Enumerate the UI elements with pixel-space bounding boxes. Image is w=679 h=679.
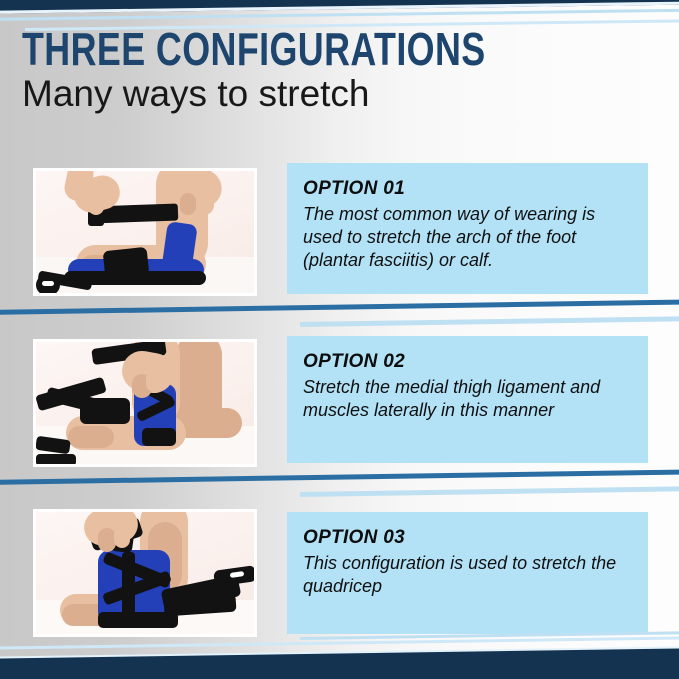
option-1-body: The most common way of wearing is used t… (303, 203, 632, 272)
option-2-label: OPTION 02 (303, 350, 632, 374)
option-2-photo (33, 339, 257, 467)
option-1-panel: OPTION 01 The most common way of wearing… (287, 163, 648, 294)
option-3-label: OPTION 03 (303, 526, 632, 550)
page-header: THREE CONFIGURATIONS Many ways to stretc… (22, 26, 616, 114)
option-1-photo (33, 168, 257, 296)
page-title: THREE CONFIGURATIONS (22, 26, 486, 72)
option-1-label: OPTION 01 (303, 177, 632, 201)
option-3-photo (33, 509, 257, 637)
section-divider-2-accent (300, 486, 679, 497)
section-divider-2 (0, 469, 679, 485)
section-divider-1 (0, 299, 679, 315)
option-2-panel: OPTION 02 Stretch the medial thigh ligam… (287, 336, 648, 463)
option-3-body: This configuration is used to stretch th… (303, 552, 632, 598)
section-divider-1-accent (300, 316, 679, 327)
option-3-panel: OPTION 03 This configuration is used to … (287, 512, 648, 634)
infographic-page: THREE CONFIGURATIONS Many ways to stretc… (0, 0, 679, 679)
option-2-body: Stretch the medial thigh ligament and mu… (303, 376, 632, 422)
page-subtitle: Many ways to stretch (22, 74, 616, 114)
